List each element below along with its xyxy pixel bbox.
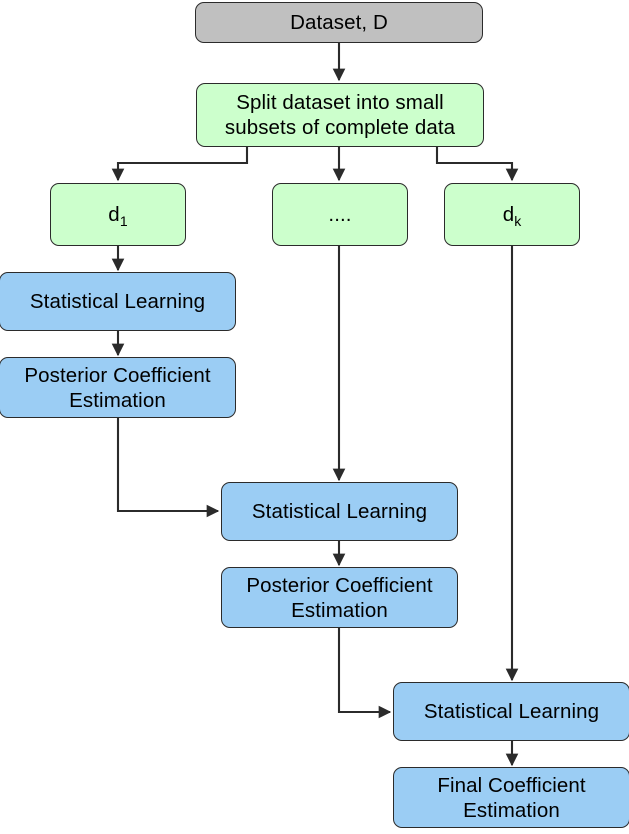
node-final-estimation[interactable]: Final Coefficient Estimation: [393, 767, 629, 828]
node-stat-learning-1-label: Statistical Learning: [30, 289, 205, 314]
node-stat-learning-2[interactable]: Statistical Learning: [221, 482, 458, 541]
node-dataset[interactable]: Dataset, D: [195, 2, 483, 43]
edge-split-to-subset-first: [118, 147, 247, 180]
node-split-dataset-label: Split dataset into small subsets of comp…: [225, 90, 455, 140]
node-subset-last-subscript: k: [514, 213, 521, 229]
edge-posterior-1-to-stat-learning-2: [118, 418, 218, 511]
edge-posterior-2-to-stat-learning-3: [339, 627, 390, 712]
node-split-dataset[interactable]: Split dataset into small subsets of comp…: [196, 83, 484, 147]
node-posterior-1-line2: Estimation: [69, 389, 166, 412]
node-split-dataset-line2: subsets of complete data: [225, 116, 455, 139]
node-subset-first[interactable]: d1: [50, 183, 186, 246]
node-subset-last-label: dk: [503, 202, 522, 227]
node-subset-last-base: d: [503, 203, 515, 226]
node-posterior-2[interactable]: Posterior Coefficient Estimation: [221, 567, 458, 628]
node-posterior-1[interactable]: Posterior Coefficient Estimation: [0, 357, 236, 418]
node-posterior-1-label: Posterior Coefficient Estimation: [24, 363, 210, 413]
node-posterior-2-label: Posterior Coefficient Estimation: [246, 573, 432, 623]
node-stat-learning-3-label: Statistical Learning: [424, 699, 599, 724]
node-final-estimation-line2: Estimation: [463, 799, 560, 822]
node-final-estimation-label: Final Coefficient Estimation: [437, 773, 585, 823]
node-subset-first-subscript: 1: [120, 213, 128, 229]
node-posterior-2-line2: Estimation: [291, 599, 388, 622]
node-subset-last[interactable]: dk: [444, 183, 580, 246]
node-dataset-label: Dataset, D: [290, 10, 388, 35]
node-subset-first-label: d1: [108, 202, 127, 227]
node-subset-middle[interactable]: ....: [272, 183, 408, 246]
node-stat-learning-2-label: Statistical Learning: [252, 499, 427, 524]
node-subset-first-base: d: [108, 203, 120, 226]
node-stat-learning-3[interactable]: Statistical Learning: [393, 682, 629, 741]
node-subset-middle-label: ....: [328, 202, 351, 227]
flowchart-canvas: Dataset, D Split dataset into small subs…: [0, 0, 629, 834]
node-posterior-1-line1: Posterior Coefficient: [24, 364, 210, 387]
edge-split-to-subset-last: [437, 147, 512, 180]
node-final-estimation-line1: Final Coefficient: [437, 774, 585, 797]
node-stat-learning-1[interactable]: Statistical Learning: [0, 272, 236, 331]
node-split-dataset-line1: Split dataset into small: [236, 91, 444, 114]
node-posterior-2-line1: Posterior Coefficient: [246, 574, 432, 597]
